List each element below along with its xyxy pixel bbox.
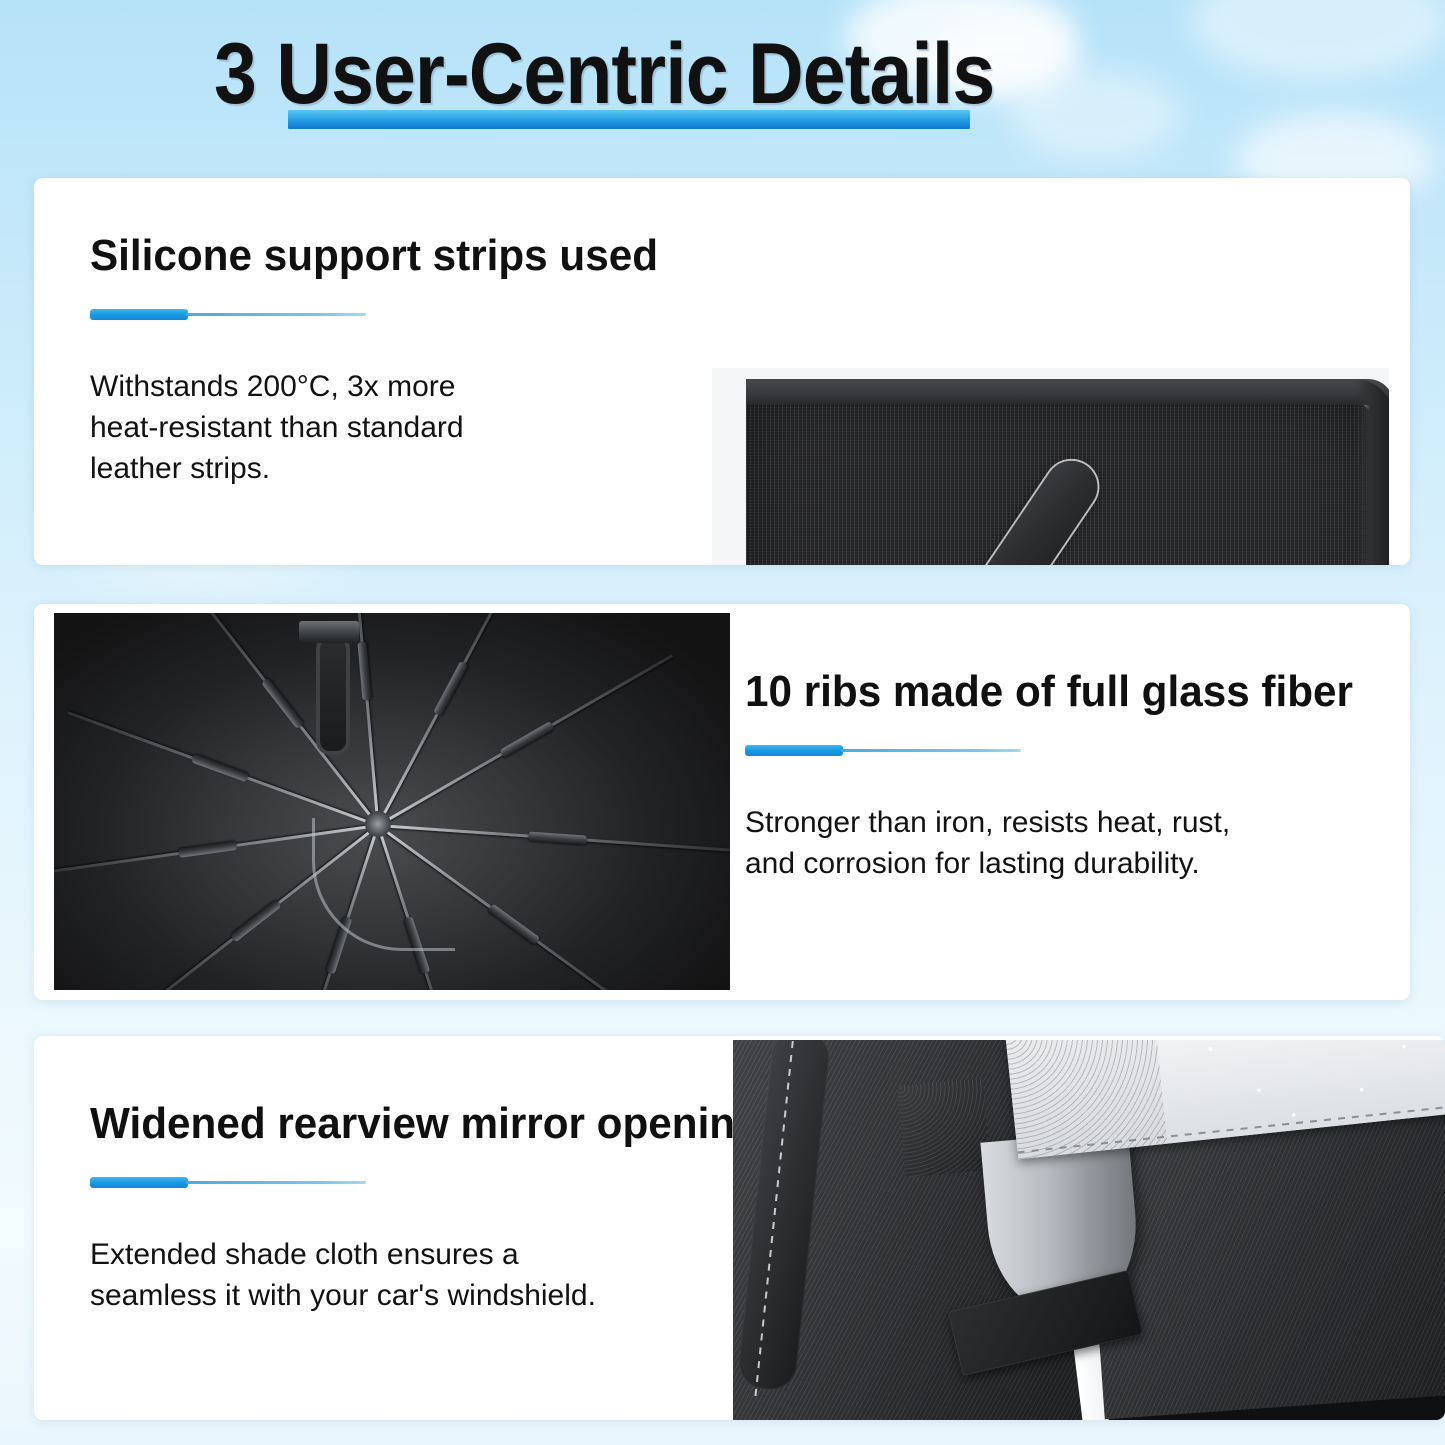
sunshade-right-panel [1085,1111,1445,1419]
sunshade-right-texture [1085,1111,1445,1419]
feature-2-photo [54,613,730,990]
sunshade-panel [746,379,1389,565]
sunshade-right-edge [1354,379,1389,565]
feature-3-body: Extended shade cloth ensures a seamless … [90,1234,750,1316]
infographic-page: 3 User-Centric Details Silicone support … [0,0,1445,1445]
feature-1-body-line-2: heat-resistant than standard [90,407,690,448]
feature-3-body-line-1: Extended shade cloth ensures a [90,1234,750,1275]
feature-2-text-block: 10 ribs made of full glass fiber Stronge… [745,666,1395,884]
feature-1-photo [712,368,1389,565]
feature-3-heading: Widened rearview mirror opening [90,1098,724,1150]
umbrella-top-clip [299,621,359,643]
feature-1-body: Withstands 200°C, 3x more heat-resistant… [90,366,690,489]
feature-1-heading: Silicone support strips used [90,230,666,282]
feature-3-photo [733,1040,1445,1420]
feature-2-heading: 10 ribs made of full glass fiber [745,666,1369,718]
feature-2-divider [745,744,1395,756]
feature-3-divider [90,1176,750,1188]
page-header: 3 User-Centric Details [0,0,1445,178]
divider-thin-segment [841,749,1021,752]
feature-1-text-block: Silicone support strips used Withstands … [90,230,690,489]
umbrella-hanging-loop [316,635,350,755]
sunshade-top-band [746,379,1389,405]
feature-1-body-line-3: leather strips. [90,448,690,489]
divider-thin-segment [186,1181,366,1184]
feature-3-body-line-2: seamless it with your car's windshield. [90,1275,750,1316]
feature-1-divider [90,308,690,320]
feature-2-body-line-2: and corrosion for lasting durability. [745,843,1395,884]
feature-1-body-line-1: Withstands 200°C, 3x more [90,366,690,407]
feature-card-3: Widened rearview mirror opening Extended… [34,1036,1445,1420]
feature-2-body-line-1: Stronger than iron, resists heat, rust, [745,802,1395,843]
page-title: 3 User-Centric Details [214,28,994,120]
velcro-hook-section [1005,1040,1168,1159]
divider-thin-segment [186,313,366,316]
feature-card-2: 10 ribs made of full glass fiber Stronge… [34,604,1410,1000]
title-wrap: 3 User-Centric Details [214,28,1086,120]
divider-thick-segment [90,1177,188,1188]
velcro-patch [897,1078,991,1177]
divider-thick-segment [90,309,188,320]
feature-2-body: Stronger than iron, resists heat, rust, … [745,802,1395,884]
feature-3-text-block: Widened rearview mirror opening Extended… [90,1098,750,1316]
divider-thick-segment [745,745,843,756]
feature-card-1: Silicone support strips used Withstands … [34,178,1410,565]
